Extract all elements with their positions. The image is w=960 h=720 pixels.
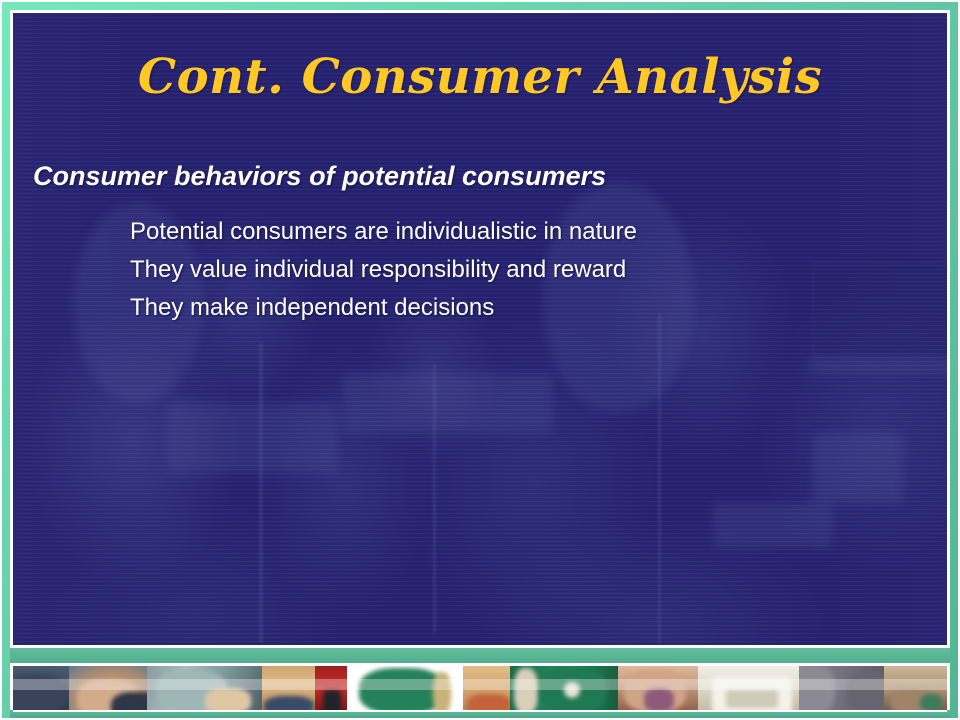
watermark-cabinet-shape [813,433,903,503]
photo-strip-cell [510,666,618,712]
slide-content-panel: Cont. Consumer Analysis Consumer behavio… [13,13,947,645]
background-watermark-image [13,13,947,645]
watermark-drape-shape [168,403,338,473]
watermark-shelf-shape [808,358,947,374]
watermark-table-shape [713,503,833,548]
photo-strip-cell [147,666,263,712]
divider-teal-band [10,648,950,663]
photo-strip-cell [262,666,314,712]
watermark-surface-shape [343,373,553,433]
photo-strip-cell [618,666,697,712]
watermark-pole-line [259,343,263,643]
presentation-slide: Cont. Consumer Analysis Consumer behavio… [0,0,960,720]
photo-strip-cell [799,666,884,712]
list-item: Potential consumers are individualistic … [130,213,910,251]
photo-strip-cell [13,666,69,712]
list-item: They make independent decisions [130,289,910,327]
photo-strip-cell [315,666,348,712]
list-item: They value individual responsibility and… [130,251,910,289]
photo-strip-cell [347,666,463,712]
photo-strip-cell [698,666,799,712]
slide-subtitle: Consumer behaviors of potential consumer… [33,161,606,192]
photo-strip-cell [463,666,510,712]
photo-strip-cell [884,666,947,712]
bullet-list: Potential consumers are individualistic … [130,213,910,327]
footer-photo-strip [13,666,947,712]
divider-white-bottom [13,710,947,712]
slide-title: Cont. Consumer Analysis [13,49,947,105]
photo-strip-cell [69,666,147,712]
watermark-stand-line [433,363,436,633]
